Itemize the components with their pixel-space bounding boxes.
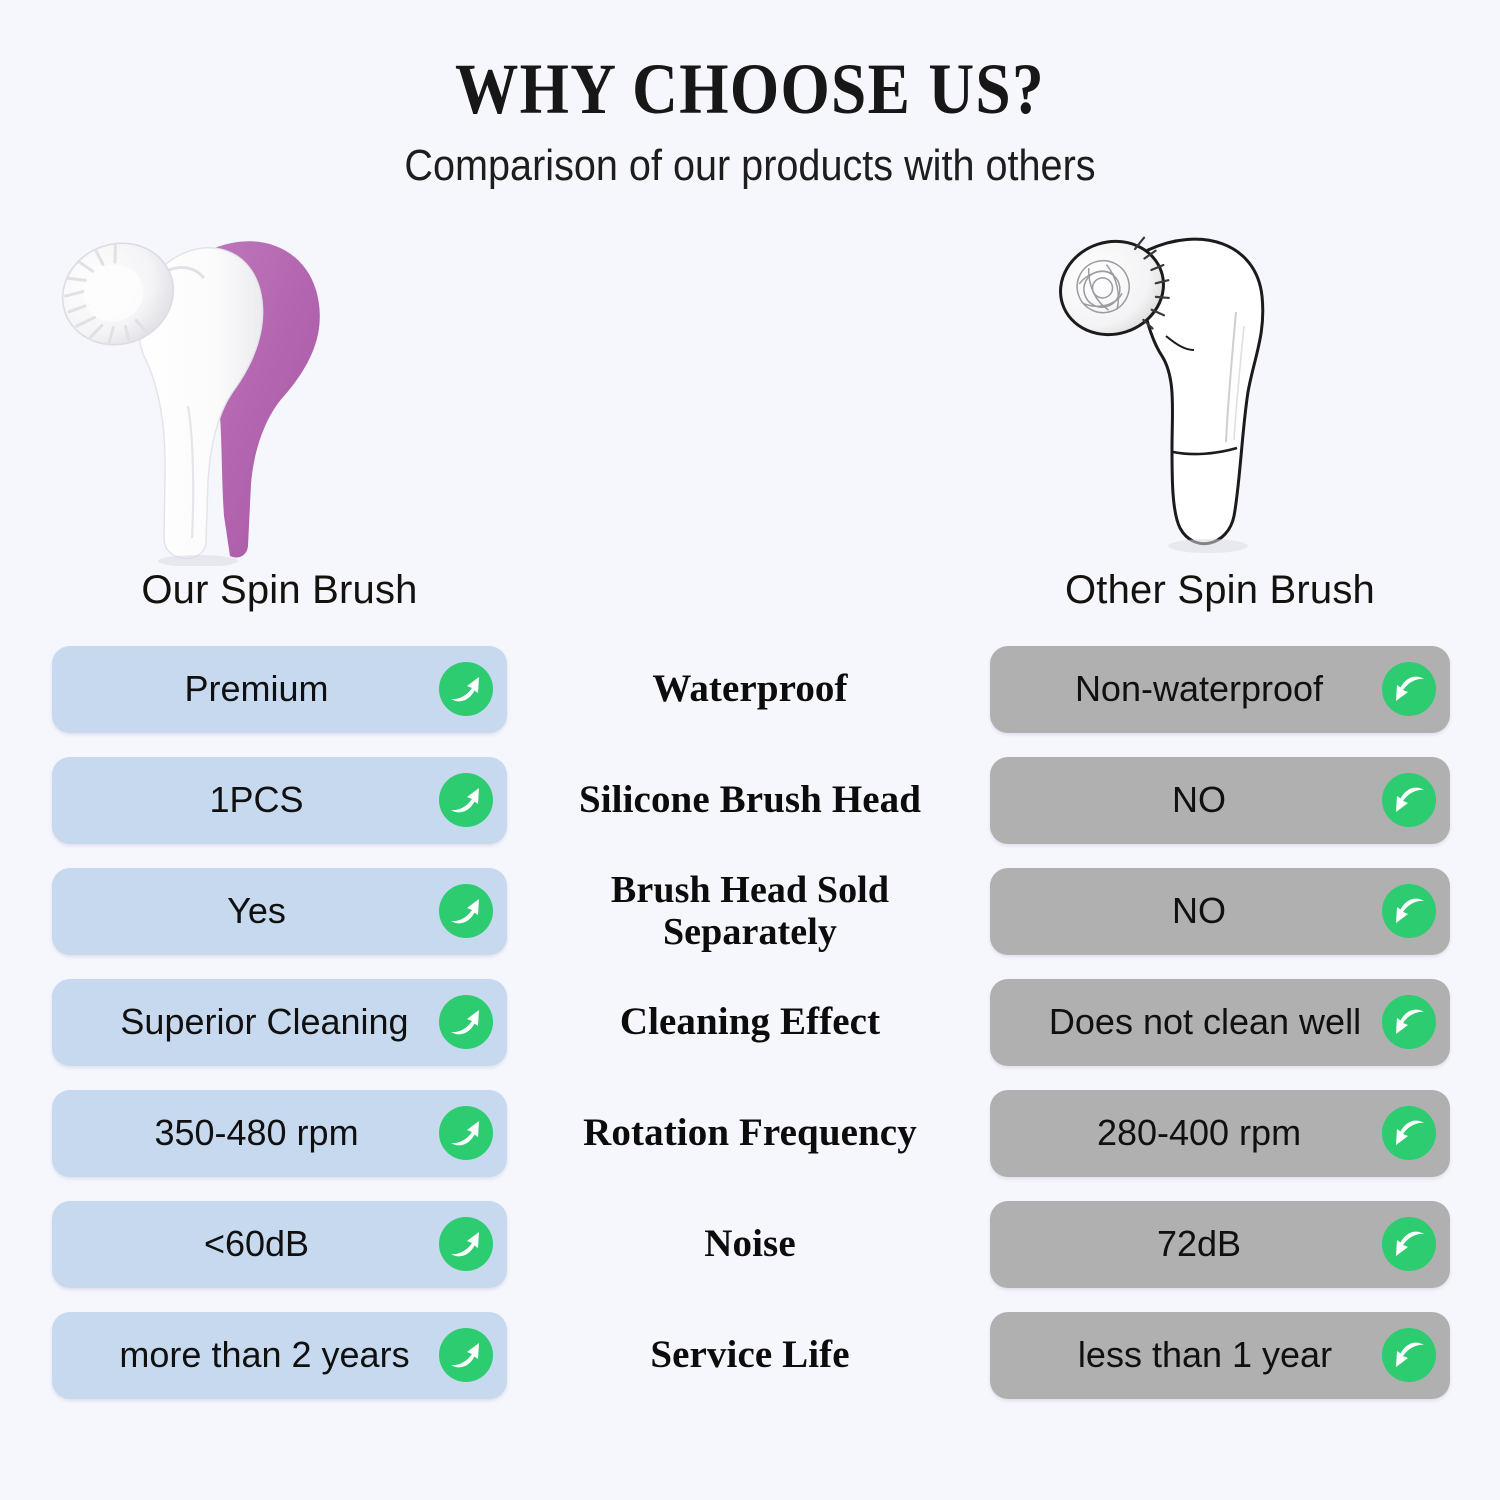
comparison-row: Yes Brush Head Sold Separately NO [0,868,1500,955]
page-title: WHY CHOOSE US? [90,52,1410,128]
check-swoosh-down-icon [1382,1217,1436,1271]
check-swoosh-up-icon [439,884,493,938]
check-swoosh-down-icon [1382,662,1436,716]
ours-value-text: Superior Cleaning [120,1004,438,1040]
page-subtitle: Comparison of our products with others [75,142,1425,190]
comparison-row: more than 2 years Service Life less than… [0,1312,1500,1399]
other-value-text: less than 1 year [1078,1337,1362,1373]
ours-value-text: Yes [227,893,332,929]
check-swoosh-up-icon [439,1328,493,1382]
ours-value-text: Premium [184,671,374,707]
other-value-text: NO [1172,893,1268,929]
ours-value-pill[interactable]: Superior Cleaning [52,979,507,1066]
ours-value-pill[interactable]: Premium [52,646,507,733]
ours-value-pill[interactable]: 1PCS [52,757,507,844]
other-value-text: Does not clean well [1049,1004,1391,1040]
feature-label: Brush Head Sold Separately [520,870,980,952]
check-swoosh-down-icon [1382,1328,1436,1382]
check-swoosh-down-icon [1382,884,1436,938]
other-value-pill[interactable]: Non-waterproof [990,646,1450,733]
other-value-pill[interactable]: 72dB [990,1201,1450,1288]
comparison-table: Premium Waterproof Non-waterproof 1PCS S… [0,646,1500,1399]
check-swoosh-up-icon [439,1106,493,1160]
ours-value-pill[interactable]: 350-480 rpm [52,1090,507,1177]
ours-value-pill[interactable]: Yes [52,868,507,955]
check-swoosh-down-icon [1382,773,1436,827]
column-headings: Our Spin Brush Other Spin Brush [0,568,1500,630]
check-swoosh-up-icon [439,773,493,827]
other-value-pill[interactable]: Does not clean well [990,979,1450,1066]
ours-value-text: 1PCS [209,782,349,818]
comparison-row: Superior Cleaning Cleaning Effect Does n… [0,979,1500,1066]
ours-value-pill[interactable]: <60dB [52,1201,507,1288]
feature-label: Cleaning Effect [520,1001,980,1043]
other-value-pill[interactable]: NO [990,757,1450,844]
other-value-pill[interactable]: 280-400 rpm [990,1090,1450,1177]
check-swoosh-up-icon [439,1217,493,1271]
product-images [0,216,1500,566]
other-value-text: NO [1172,782,1268,818]
check-swoosh-up-icon [439,662,493,716]
feature-label: Noise [520,1223,980,1265]
ours-value-pill[interactable]: more than 2 years [52,1312,507,1399]
ours-value-text: more than 2 years [119,1337,439,1373]
other-value-pill[interactable]: NO [990,868,1450,955]
comparison-infographic: WHY CHOOSE US? Comparison of our product… [0,0,1500,1500]
header: WHY CHOOSE US? Comparison of our product… [0,0,1500,190]
check-swoosh-up-icon [439,995,493,1049]
other-column-heading: Other Spin Brush [990,568,1450,613]
feature-label: Silicone Brush Head [520,779,980,821]
feature-label: Service Life [520,1334,980,1376]
feature-label: Waterproof [520,668,980,710]
ours-column-heading: Our Spin Brush [52,568,507,613]
comparison-row: <60dB Noise 72dB [0,1201,1500,1288]
other-value-text: Non-waterproof [1075,671,1365,707]
other-spin-brush-image [1030,216,1360,566]
comparison-row: Premium Waterproof Non-waterproof [0,646,1500,733]
other-value-pill[interactable]: less than 1 year [990,1312,1450,1399]
other-value-text: 280-400 rpm [1097,1115,1343,1151]
our-spin-brush-image [48,216,378,566]
comparison-row: 350-480 rpm Rotation Frequency 280-400 r… [0,1090,1500,1177]
other-value-text: 72dB [1157,1226,1283,1262]
check-swoosh-down-icon [1382,995,1436,1049]
ours-value-text: 350-480 rpm [154,1115,404,1151]
comparison-row: 1PCS Silicone Brush Head NO [0,757,1500,844]
ours-value-text: <60dB [204,1226,355,1262]
check-swoosh-down-icon [1382,1106,1436,1160]
feature-label: Rotation Frequency [520,1112,980,1154]
